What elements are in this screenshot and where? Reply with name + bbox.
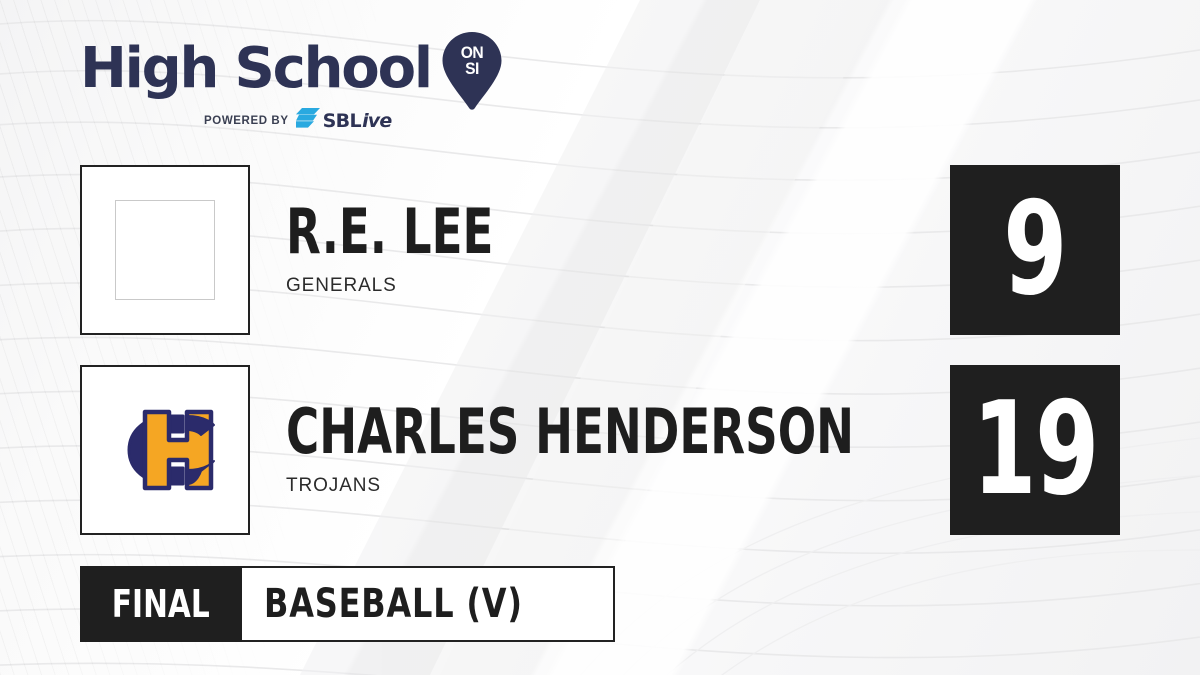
brand-wordmark: High School [80,40,431,98]
team-name-home: CHARLES HENDERSON [286,403,895,461]
sblive-wordmark-bold: SBL [323,110,361,132]
charles-henderson-ch-monogram-icon [113,398,217,502]
score-value-away: 9 [1004,190,1067,310]
team-name-away: R.E. LEE [286,203,895,261]
team-logo-card-away [80,165,250,335]
sblive-logo: SBL ive [296,108,392,133]
score-box-away: 9 [950,165,1120,335]
brand-header: High School ON SI POWERED BY [80,36,520,132]
sport-label: BASEBALL (V) [264,584,523,624]
team-logo-card-home [80,365,250,535]
sblive-s-icon [296,108,320,133]
scoreboard-graphic: High School ON SI POWERED BY [0,0,1200,675]
powered-by-row: POWERED BY SBL ive [204,108,520,133]
powered-by-label: POWERED BY [204,115,289,127]
game-status-bar: FINAL BASEBALL (V) [80,566,615,642]
map-pin-icon: ON SI [441,32,503,110]
status-badge: FINAL [80,566,242,642]
team-logo-placeholder-icon [115,200,215,300]
sport-label-box: BASEBALL (V) [242,566,615,642]
pin-text: ON SI [443,45,500,77]
brand-logo-row: High School ON SI [80,36,520,102]
score-box-home: 19 [950,365,1120,535]
status-state-label: FINAL [112,585,210,623]
score-value-home: 19 [972,390,1097,510]
pin-line-2: SI [443,61,500,77]
sblive-wordmark-italic: ive [362,110,391,132]
